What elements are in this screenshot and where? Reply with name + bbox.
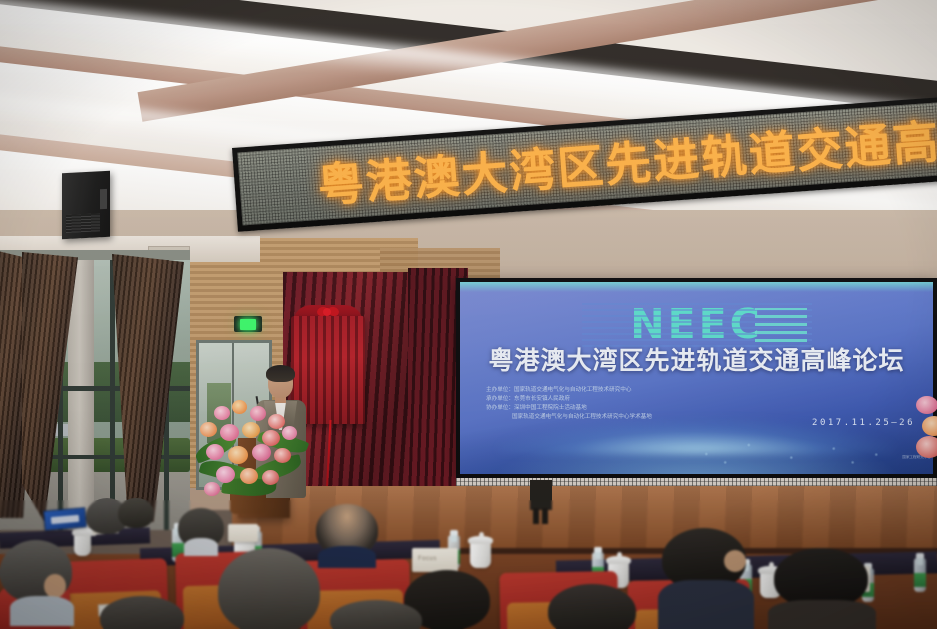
flower-bloom <box>200 422 217 437</box>
flower-bloom <box>242 422 260 438</box>
audience-member <box>316 504 378 560</box>
flower-bloom <box>216 466 235 483</box>
audience-member <box>0 540 74 610</box>
audience-shoulders <box>318 546 376 568</box>
audience-head <box>548 584 636 629</box>
organizer-line-2: 承办单位：东莞市长安镇人民政府 <box>486 395 652 404</box>
presenter-hair <box>266 365 295 382</box>
audience-member <box>548 584 636 629</box>
audience-member <box>100 596 184 629</box>
loudspeaker <box>62 171 110 240</box>
name-placard <box>43 507 87 531</box>
tissue-box-label: Focus <box>418 556 437 562</box>
flower-bloom <box>240 468 258 484</box>
flower-bloom <box>204 482 220 496</box>
audience-head <box>118 498 154 528</box>
slide-top-glow <box>460 282 933 292</box>
tissue-box: Focus <box>412 548 458 572</box>
flower-bloom <box>250 406 266 421</box>
audience-head <box>330 600 422 629</box>
audience-member <box>330 600 422 629</box>
projection-screen: NEEC 粤港澳大湾区先进轨道交通高峰论坛 主办单位：国家轨道交通电气化与自动化… <box>460 282 933 474</box>
organizer-line-4: 国家轨道交通电气化与自动化工程技术研究中心学术基地 <box>486 413 652 422</box>
flower-bloom <box>262 470 279 485</box>
flower-arrangement-right <box>916 396 937 466</box>
audience-ear <box>724 550 746 572</box>
slide-date: 2017.11.25—26 <box>812 418 915 428</box>
audience-shoulders <box>184 538 218 556</box>
tissue-box <box>228 524 258 542</box>
audience-member <box>118 498 154 528</box>
audience-shoulders <box>10 596 74 626</box>
flower-bloom <box>252 444 271 461</box>
flower-bloom <box>268 414 285 429</box>
flower-bloom <box>274 448 291 463</box>
audience-member <box>662 528 750 629</box>
slide-organizers: 主办单位：国家轨道交通电气化与自动化工程技术研究中心 承办单位：东莞市长安镇人民… <box>486 386 652 422</box>
audience-head <box>774 548 868 608</box>
water-bottle <box>914 558 926 592</box>
exit-sign-icon <box>234 316 262 332</box>
organizer-line-3: 协办单位：深圳中国工程院院士活动基地 <box>486 404 652 413</box>
audience-member <box>178 508 224 548</box>
audience-member <box>774 548 870 629</box>
flower-bloom <box>232 400 247 414</box>
window-mullion <box>110 260 115 530</box>
flower-bloom <box>220 424 239 441</box>
audience-shoulders <box>768 600 876 629</box>
neec-logo: NEEC <box>630 304 762 345</box>
audience-shoulders <box>658 580 754 629</box>
speaker-port <box>100 189 107 209</box>
audience-head <box>218 548 320 629</box>
flower-bloom <box>228 446 248 464</box>
slide-title: 粤港澳大湾区先进轨道交通高峰论坛 <box>460 346 933 376</box>
red-bow-icon <box>318 305 338 319</box>
flower-bloom <box>282 426 297 440</box>
projection-screen-frame: NEEC 粤港澳大湾区先进轨道交通高峰论坛 主办单位：国家轨道交通电气化与自动化… <box>456 278 937 478</box>
logo-bar-marks <box>755 308 807 342</box>
tea-mug <box>470 542 491 568</box>
organizer-line-1: 主办单位：国家轨道交通电气化与自动化工程技术研究中心 <box>486 386 652 395</box>
audience-head <box>100 596 184 629</box>
slide-city-lights <box>678 436 915 466</box>
flower-arrangement <box>196 396 304 501</box>
audience-member <box>218 548 322 629</box>
tea-mug <box>74 534 91 556</box>
slide-logo-wrap: NEEC <box>460 304 933 345</box>
conference-photo: 粤港澳大湾区先进轨道交通高峰论 NEEC 粤港澳大湾区先进轨道交通高峰论坛 <box>0 0 937 629</box>
audience-face <box>44 574 66 598</box>
flower-bloom <box>214 406 230 420</box>
speaker-grille <box>66 213 100 233</box>
standing-person <box>530 480 552 524</box>
flower-bloom <box>206 444 224 460</box>
